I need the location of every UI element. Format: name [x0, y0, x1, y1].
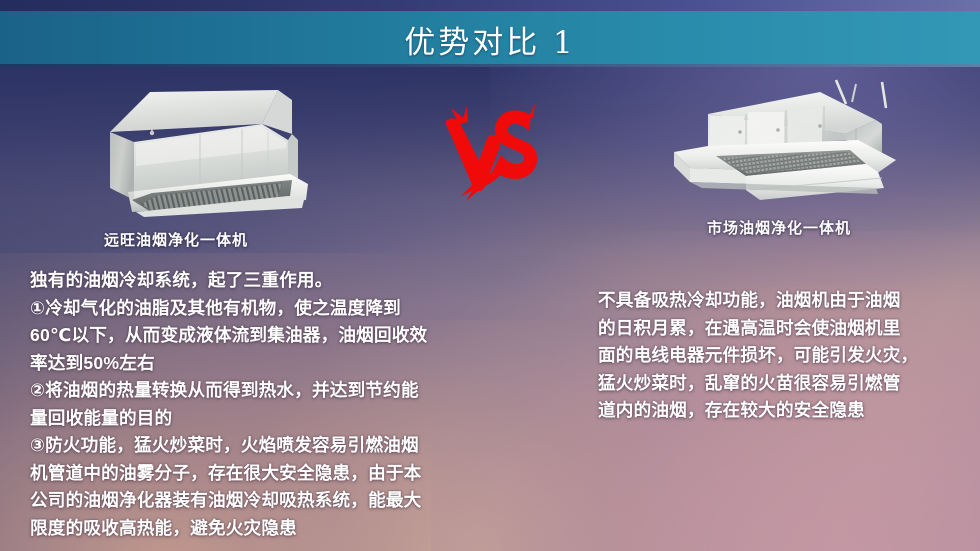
product-image-left [92, 88, 380, 218]
body-right-line: 的日积月累，在遇高温时会使油烟机里 [598, 315, 970, 343]
body-left-line: 限度的吸收高热能，避免火灾隐患 [30, 515, 500, 543]
body-left-line: ②将油烟的热量转换从而得到热水，并达到节约能 [30, 377, 500, 405]
body-right-line: 猛火炒菜时，乱窜的火苗很容易引燃管 [598, 370, 970, 398]
title-band: 优势对比 1 [0, 11, 980, 67]
top-accent-strip [0, 0, 980, 11]
product-caption-right: 市场油烟净化一体机 [707, 217, 851, 238]
product-caption-left: 远旺油烟净化一体机 [104, 229, 248, 250]
vs-icon [445, 104, 549, 202]
body-text-right: 不具备吸热冷却功能，油烟机由于油烟的日积月累，在遇高温时会使油烟机里面的电线电器… [598, 287, 970, 425]
body-left-line: ③防火功能，猛火炒菜时，火焰喷发容易引燃油烟 [30, 432, 500, 460]
body-text-left: 独有的油烟冷却系统，起了三重作用。①冷却气化的油脂及其他有机物，使之温度降到60… [30, 267, 500, 542]
presentation-slide: 优势对比 1 [0, 0, 980, 551]
body-left-line: 量回收能量的目的 [30, 405, 500, 433]
body-right-line: 道内的油烟，存在较大的安全隐患 [598, 397, 970, 425]
body-right-line: 不具备吸热冷却功能，油烟机由于油烟 [598, 287, 970, 315]
body-left-line: 机管道中的油雾分子，存在很大安全隐患，由于本 [30, 460, 500, 488]
body-right-line: 面的电线电器元件损坏，可能引发火灾， [598, 342, 970, 370]
body-left-line: 率达到50%左右 [30, 350, 500, 378]
body-left-line: 独有的油烟冷却系统，起了三重作用。 [30, 267, 500, 295]
product-image-right [650, 78, 932, 210]
body-left-line: 60℃以下，从而变成液体流到集油器，油烟回收效 [30, 322, 500, 350]
body-left-line: ①冷却气化的油脂及其他有机物，使之温度降到 [30, 295, 500, 323]
body-left-line: 公司的油烟净化器装有油烟冷却吸热系统，能最大 [30, 487, 500, 515]
page-title: 优势对比 1 [404, 17, 576, 62]
